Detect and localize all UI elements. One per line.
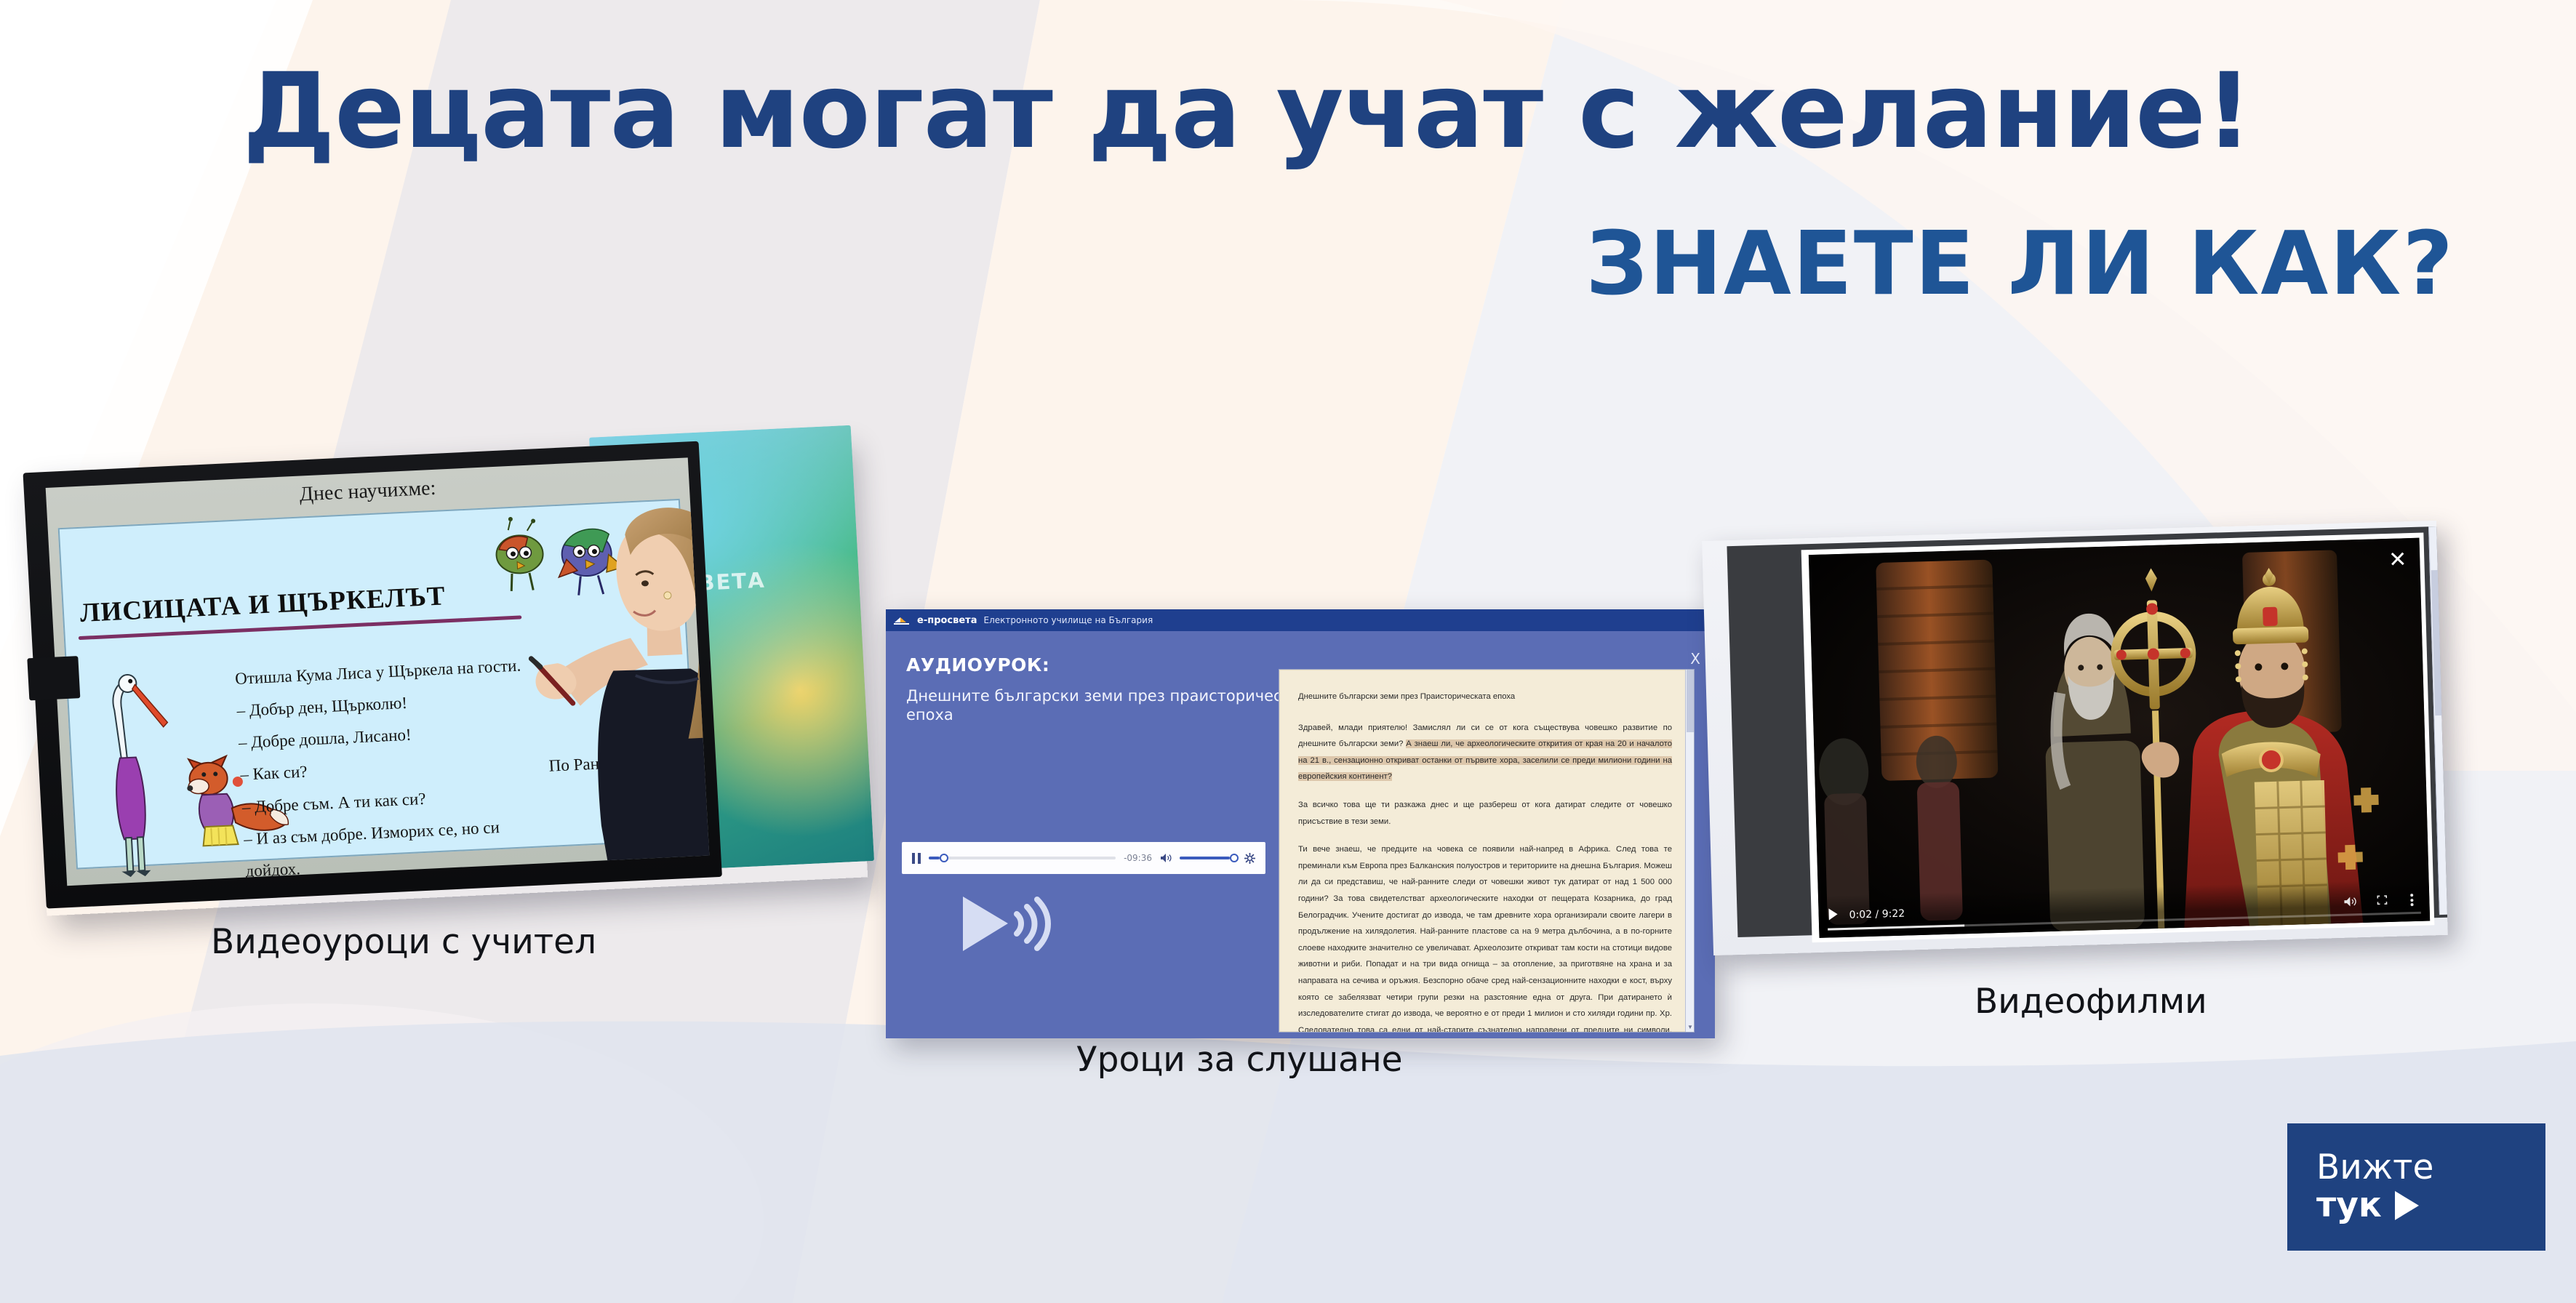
volume-fill	[1180, 857, 1230, 859]
audio-lesson-screenshot[interactable]: e-просвета Електронното училище на Бълга…	[886, 609, 1715, 1038]
audio-speaker-play-icon	[959, 889, 1053, 958]
video-lesson-screenshot[interactable]: ПРОСВЕТА ОСНОВАНА Днес научихме: ЛИСИЦАТ…	[23, 434, 868, 915]
scrollbar-thumb[interactable]	[1687, 670, 1694, 732]
transcript-paragraph: За всичко това ще ти разкажа днес и ще р…	[1298, 797, 1672, 830]
stork-illustration	[98, 670, 179, 878]
cta-line-2-label: тук	[2316, 1187, 2382, 1225]
audio-progress-fill	[929, 857, 940, 859]
video-progress-fill	[1828, 924, 1964, 930]
headline-line-2: ЗНАЕТЕ ЛИ КАК?	[0, 221, 2495, 308]
volume-icon[interactable]	[2343, 896, 2356, 907]
fullscreen-icon[interactable]	[2377, 895, 2387, 905]
transcript-paragraph: Здравей, млади приятелю! Замислял ли си …	[1298, 720, 1672, 785]
caption-video-lessons: Видеоуроци с учител	[211, 922, 596, 962]
close-icon[interactable]: ✕	[2388, 547, 2407, 573]
tv-bezel: Днес научихме: ЛИСИЦАТА И ЩЪРКЕЛЪТ	[23, 441, 722, 909]
audio-brand-tagline: Електронното училище на България	[984, 615, 1153, 625]
caption-audio-lessons: Уроци за слушане	[1076, 1040, 1403, 1080]
historical-film-scene	[1809, 538, 2430, 938]
pause-icon[interactable]	[912, 853, 921, 864]
transcript-heading: Днешните български земи през Праисториче…	[1298, 689, 1672, 705]
close-icon[interactable]: X	[1690, 650, 1700, 667]
video-time-display: 0:02 / 9:22	[1849, 908, 1905, 921]
video-modal-frame: ✕ 0:02 / 9:22	[1801, 533, 2435, 943]
scroll-down-icon[interactable]: ▼	[1686, 1023, 1695, 1032]
audio-brand-name: e-просвета	[917, 615, 977, 626]
transcript-scrollbar[interactable]: ▲ ▼	[1685, 670, 1694, 1032]
see-here-button[interactable]: Вижте тук	[2287, 1123, 2545, 1251]
audio-time-remaining: -09:36	[1124, 853, 1152, 863]
tv-screen: Днес научихме: ЛИСИЦАТА И ЩЪРКЕЛЪТ	[46, 457, 710, 886]
video-progress-bar[interactable]	[1828, 912, 2421, 931]
volume-knob[interactable]	[1230, 854, 1239, 862]
audio-window-body: АУДИОУРОК: Днешните български земи през …	[886, 631, 1715, 1038]
play-icon[interactable]	[1828, 908, 1837, 920]
audio-progress-slider[interactable]	[929, 857, 1116, 859]
volume-slider[interactable]	[1180, 857, 1236, 859]
eprosveta-logo-icon	[894, 615, 911, 625]
audio-lesson-title: Днешните български земи през праисториче…	[906, 686, 1328, 725]
slide-text: Отишла Кума Лиса у Щъркела на гости. – Д…	[234, 649, 559, 886]
headline-block: Децата могат да учат с желание! ЗНАЕТЕ Л…	[0, 58, 2495, 308]
kebab-menu-icon[interactable]	[2410, 894, 2413, 906]
audio-progress-knob[interactable]	[940, 854, 948, 862]
cta-line-2: тук	[2316, 1187, 2545, 1225]
audio-lesson-kicker: АУДИОУРОК:	[906, 654, 1049, 675]
teacher-photo	[516, 482, 709, 886]
transcript-paragraph: Ти вече знаеш, че предците на човека се …	[1298, 841, 1672, 1033]
volume-icon[interactable]	[1160, 853, 1172, 863]
gear-icon[interactable]	[1244, 853, 1255, 864]
cta-line-1: Вижте	[2316, 1150, 2545, 1187]
audio-player[interactable]: -09:36	[902, 842, 1265, 874]
video-screen[interactable]: ✕ 0:02 / 9:22	[1809, 538, 2430, 938]
audio-window-titlebar: e-просвета Електронното училище на Бълга…	[886, 609, 1715, 631]
caption-video-films: Видеофилми	[1975, 982, 2207, 1022]
headline-line-1: Децата могат да учат с желание!	[0, 58, 2495, 164]
audio-transcript-pane[interactable]: Днешните български земи през Праисториче…	[1279, 669, 1695, 1033]
play-triangle-icon	[2395, 1191, 2419, 1220]
video-film-screenshot[interactable]: Тест	[1702, 521, 2448, 955]
